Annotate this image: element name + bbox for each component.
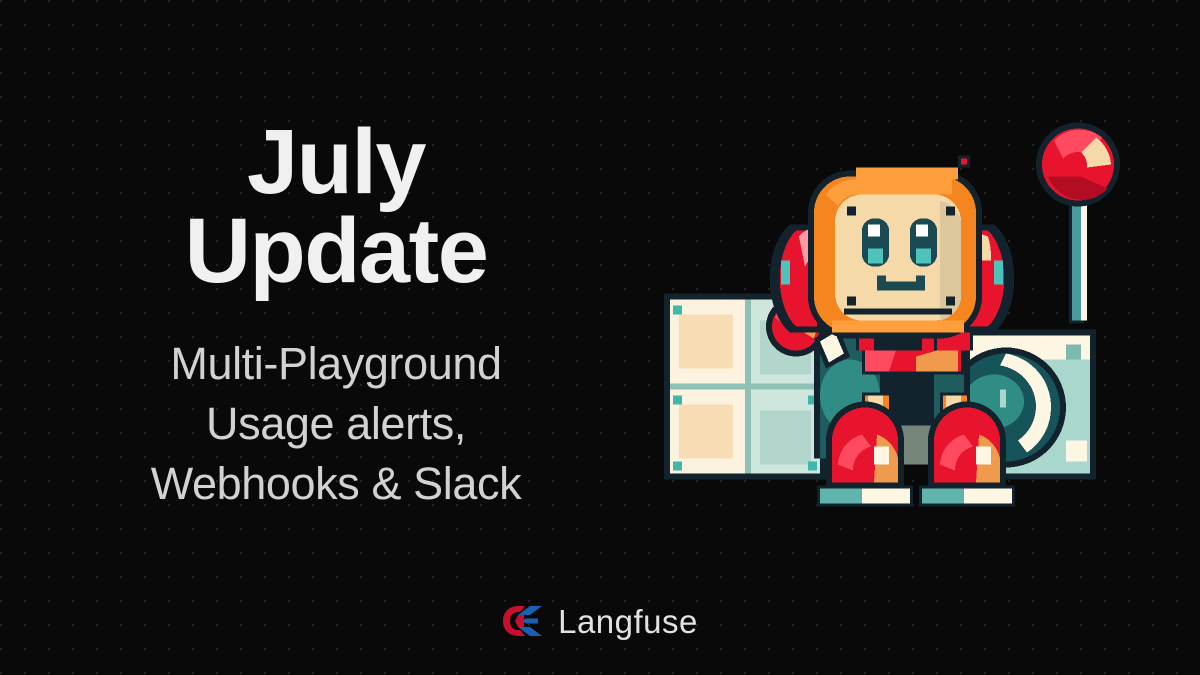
brand-lockup: Langfuse	[0, 604, 1200, 638]
langfuse-logo-icon	[502, 604, 544, 638]
subtitle-line-3: Webhooks & Slack	[66, 454, 606, 514]
balloon-on-stick-graphic	[1036, 123, 1120, 324]
text-column: July Update Multi-Playground Usage alert…	[66, 118, 606, 514]
robot-helmet-graphic	[808, 168, 982, 351]
page-title: July Update	[66, 118, 606, 296]
illustration-container	[640, 110, 1120, 510]
promo-banner: July Update Multi-Playground Usage alert…	[0, 0, 1200, 675]
pixel-art-robot-illustration	[640, 110, 1120, 510]
subtitle-line-2: Usage alerts,	[66, 394, 606, 454]
headline-line-1: July	[66, 118, 606, 207]
brand-name: Langfuse	[558, 605, 698, 638]
subtitle: Multi-Playground Usage alerts, Webhooks …	[66, 334, 606, 514]
headline-line-2: Update	[66, 207, 606, 296]
subtitle-line-1: Multi-Playground	[66, 334, 606, 394]
